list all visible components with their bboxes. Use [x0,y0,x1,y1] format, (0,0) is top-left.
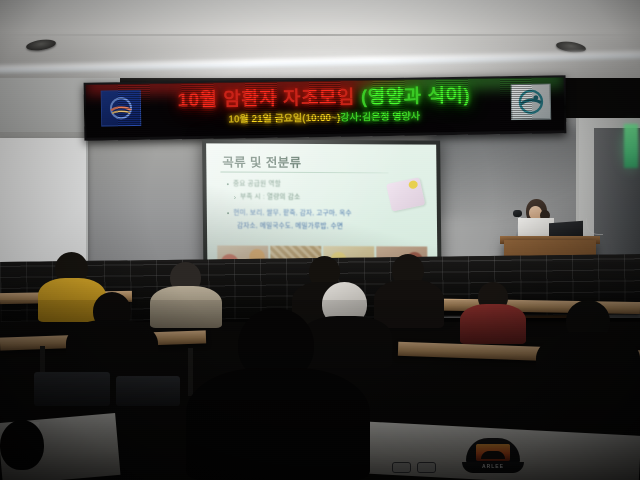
logo-circle-icon [516,89,546,115]
emergency-exit-sign-icon [624,124,638,168]
chair [116,376,180,406]
table-leg [188,348,193,396]
lecture-room-photo: 10월 암환자 자조모임 (영양과 식이) 10월 21일 금요일(10:00~… [0,0,640,480]
audience-body [66,320,158,378]
hospital-logo-teal-icon [511,83,552,120]
logo-swirl-icon [107,96,135,120]
microphone-icon [513,210,522,217]
audience-body [536,332,640,398]
audience-head [0,420,44,470]
cap-logo-icon [476,444,510,461]
baseball-cap: ARLEE [462,436,524,474]
lens-left [392,462,411,473]
chair [34,372,110,406]
audience-body [150,286,222,328]
led-datetime: 10월 21일 금요일(10:00~) [228,108,340,125]
audience-body [186,368,370,480]
audience-body [374,280,444,328]
led-lecturer: 강사:김은정 영양사 [340,107,420,123]
lens-right [417,462,436,473]
audience-body [460,304,526,344]
led-display-board: 10월 암환자 자조모임 (영양과 식이) 10월 21일 금요일(10:00~… [86,77,565,138]
cap-label: ARLEE [462,464,524,470]
ceiling-seam [0,34,640,36]
eyeglasses-icon [392,462,436,472]
whiteboard [0,138,88,268]
led-marquee-sign: 10월 암환자 자조모임 (영양과 식이) 10월 21일 금요일(10:00~… [84,75,567,141]
